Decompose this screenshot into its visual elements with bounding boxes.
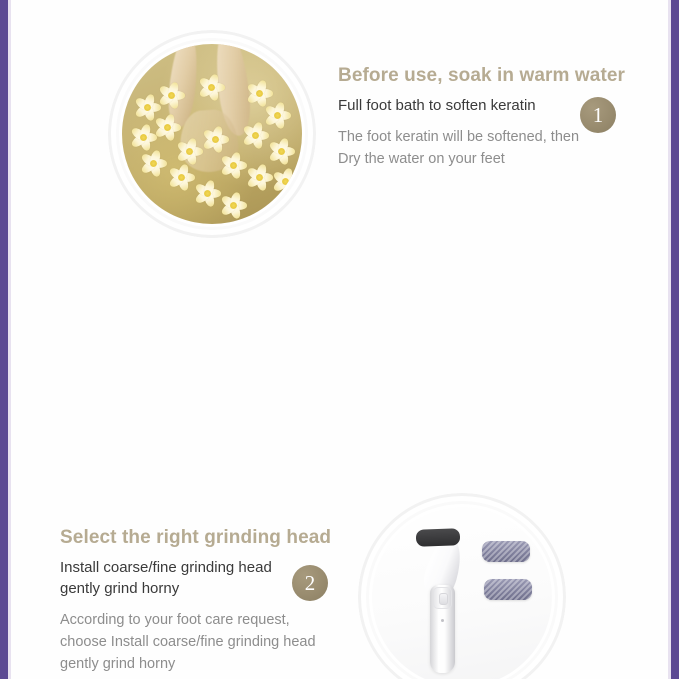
step-1-section: Before use, soak in warm water Full foot… — [0, 8, 679, 233]
step-1-badge: 1 — [580, 97, 616, 133]
flower-icon — [270, 166, 300, 196]
flower-icon — [218, 190, 248, 220]
flower-icon — [196, 72, 226, 102]
step-2-section: Select the right grinding head Install c… — [0, 243, 679, 468]
flower-icon — [218, 150, 248, 180]
step-3-section: Repair and repair Hold switch and safety… — [0, 443, 679, 679]
step-1-title: Before use, soak in warm water — [338, 63, 638, 89]
flower-icon — [138, 148, 168, 178]
instruction-infographic: Before use, soak in warm water Full foot… — [0, 0, 679, 679]
feet-soaking-in-water-photo — [108, 30, 316, 238]
flower-icon — [156, 80, 186, 110]
photo-1-image — [122, 44, 302, 224]
